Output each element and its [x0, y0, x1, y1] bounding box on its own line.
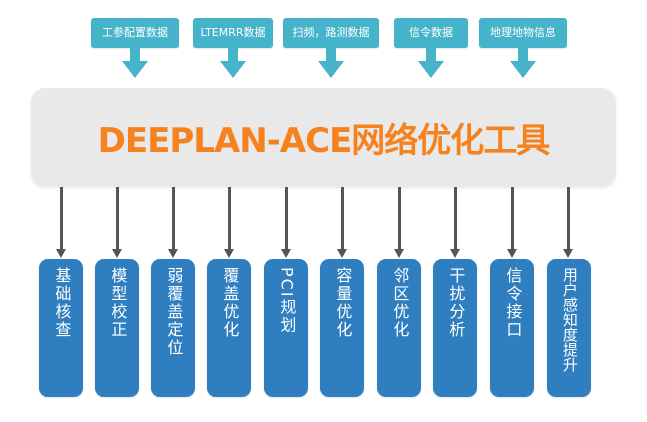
product-banner: DEEPLAN-ACE网络优化工具 [31, 88, 616, 186]
module-box[interactable]: 弱覆盖定位 [151, 259, 195, 397]
module-box[interactable]: 干扰分析 [433, 259, 477, 397]
module-box[interactable]: 基础核查 [39, 259, 83, 397]
module-label: 基础核查 [53, 267, 70, 339]
module-down-arrow-icon [450, 187, 461, 259]
arrow-head [507, 249, 517, 258]
data-source-box[interactable]: 扫频，路测数据 [283, 18, 379, 48]
arrow-shaft [60, 187, 63, 250]
module-label-wrapper: 干扰分析 [433, 259, 477, 397]
module-down-arrow-icon [168, 187, 179, 259]
module-label-wrapper: 基础核查 [39, 259, 83, 397]
module-label-wrapper: 模型校正 [95, 259, 139, 397]
module-box[interactable]: 用户感知度提升 [547, 259, 591, 397]
arrow-shaft [116, 187, 119, 250]
arrow-head [168, 249, 178, 258]
arrow-head [112, 249, 122, 258]
arrow-shaft [511, 187, 514, 250]
module-label: 模型校正 [109, 267, 126, 339]
module-label-wrapper: 弱覆盖定位 [151, 259, 195, 397]
arrow-shaft [228, 187, 231, 250]
module-down-arrow-icon [112, 187, 123, 259]
source-down-arrow-icon [510, 48, 536, 80]
module-label: 容量优化 [334, 267, 351, 339]
page-title: DEEPLAN-ACE网络优化工具 [98, 113, 550, 162]
module-down-arrow-icon [56, 187, 67, 259]
arrow-head [220, 61, 246, 78]
arrow-head [122, 61, 148, 78]
arrow-shaft [518, 48, 528, 62]
module-label: 用户感知度提升 [561, 267, 577, 372]
source-down-arrow-icon [220, 48, 246, 80]
arrow-shaft [454, 187, 457, 250]
module-box[interactable]: PCI规划 [264, 259, 308, 397]
module-down-arrow-icon [337, 187, 348, 259]
module-down-arrow-icon [394, 187, 405, 259]
module-label-wrapper: 容量优化 [320, 259, 364, 397]
module-box[interactable]: 容量优化 [320, 259, 364, 397]
module-label: 干扰分析 [447, 267, 464, 339]
source-down-arrow-icon [418, 48, 444, 80]
network-optimization-diagram: 工参配置数据LTEMRR数据扫频，路测数据信令数据地理地物信息 DEEPLAN-… [0, 0, 647, 422]
module-down-arrow-icon [563, 187, 574, 259]
module-label: 覆盖优化 [221, 267, 238, 339]
module-label-wrapper: PCI规划 [264, 259, 308, 397]
module-box[interactable]: 覆盖优化 [207, 259, 251, 397]
arrow-shaft [567, 187, 570, 250]
data-source-box[interactable]: LTEMRR数据 [193, 18, 273, 48]
module-label-wrapper: 邻区优化 [377, 259, 421, 397]
module-label-wrapper: 用户感知度提升 [547, 259, 591, 397]
arrow-head [418, 61, 444, 78]
arrow-shaft [426, 48, 436, 62]
module-box[interactable]: 信令接口 [490, 259, 534, 397]
data-source-row: 工参配置数据LTEMRR数据扫频，路测数据信令数据地理地物信息 [0, 18, 647, 52]
arrow-head [224, 249, 234, 258]
module-box[interactable]: 模型校正 [95, 259, 139, 397]
arrow-shaft [172, 187, 175, 250]
module-down-arrow-icon [507, 187, 518, 259]
data-source-box[interactable]: 信令数据 [394, 18, 468, 48]
arrow-head [563, 249, 573, 258]
module-label-wrapper: 信令接口 [490, 259, 534, 397]
arrow-head [450, 249, 460, 258]
module-label: 弱覆盖定位 [165, 267, 182, 357]
arrow-shaft [326, 48, 336, 62]
source-down-arrow-icon [122, 48, 148, 80]
data-source-box[interactable]: 地理地物信息 [479, 18, 567, 48]
arrow-head [281, 249, 291, 258]
module-label-wrapper: 覆盖优化 [207, 259, 251, 397]
module-label: 信令接口 [504, 267, 521, 339]
module-down-arrow-icon [281, 187, 292, 259]
arrow-head [337, 249, 347, 258]
arrow-head [56, 249, 66, 258]
arrow-shaft [341, 187, 344, 250]
arrow-shaft [228, 48, 238, 62]
arrow-head [394, 249, 404, 258]
module-label: 邻区优化 [391, 267, 408, 339]
arrow-shaft [398, 187, 401, 250]
arrow-shaft [285, 187, 288, 250]
module-label: PCI规划 [278, 267, 295, 335]
module-box[interactable]: 邻区优化 [377, 259, 421, 397]
arrow-shaft [130, 48, 140, 62]
arrow-head [510, 61, 536, 78]
data-source-box[interactable]: 工参配置数据 [91, 18, 179, 48]
source-down-arrow-icon [318, 48, 344, 80]
arrow-head [318, 61, 344, 78]
module-down-arrow-icon [224, 187, 235, 259]
